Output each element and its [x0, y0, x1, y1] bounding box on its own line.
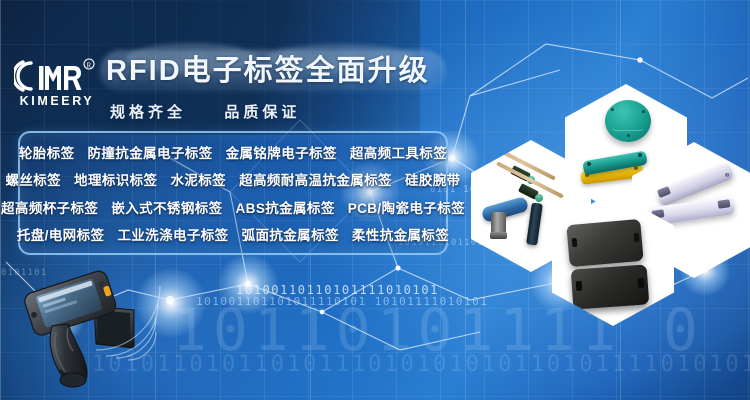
tag-row: 螺丝标签地理标识标签水泥标签超高频耐高温抗金属标签硅胶腕带 [20, 169, 446, 189]
tag-list-panel: 轮胎标签防撞抗金属电子标签金属铭牌电子标签超高频工具标签螺丝标签地理标识标签水泥… [18, 131, 448, 255]
rfid-handheld-reader-icon [22, 266, 154, 394]
binary-text-1: 10100110110101111010101 [236, 283, 439, 297]
rfid-handheld-reader[interactable] [22, 266, 154, 394]
tag-item[interactable]: 水泥标签 [170, 169, 226, 189]
tag-item[interactable]: 柔性抗金属标签 [352, 224, 449, 244]
tag-item[interactable]: 弧面抗金属标签 [242, 224, 339, 244]
title-area: RFID电子标签全面升级 [100, 48, 450, 94]
kimeery-wordmark: KIMEERY [20, 94, 95, 108]
glow-node [218, 254, 278, 314]
tag-item[interactable]: 工业洗涤电子标签 [117, 224, 228, 244]
tag-item[interactable]: 轮胎标签 [19, 142, 75, 162]
dark-rect-tag-upper [566, 219, 643, 267]
page-title: RFID电子标签全面升级 [106, 51, 430, 91]
kimeery-logo-icon: R KIMEERY [14, 52, 100, 108]
kimeery-logo: R KIMEERY [14, 52, 100, 108]
tag-row: 超高频杯子标签嵌入式不锈钢标签ABS抗金属标签PCB/陶瓷电子标签 [20, 197, 446, 217]
subtitle-left: 规格齐全 [110, 104, 186, 121]
tag-item[interactable]: 螺丝标签 [5, 169, 61, 189]
binary-watermark-strip: 1010110101101011101010101011010111101010… [92, 352, 750, 377]
tag-row: 轮胎标签防撞抗金属电子标签金属铭牌电子标签超高频工具标签 [20, 142, 446, 162]
tag-item[interactable]: 超高频工具标签 [350, 142, 447, 162]
tag-item[interactable]: 超高频耐高温抗金属标签 [239, 169, 392, 189]
tag-item[interactable]: 托盘/电网标签 [17, 224, 105, 244]
disc-tag-hole [627, 134, 630, 137]
dark-tag-notch [634, 233, 640, 242]
tag-item[interactable]: 地理标识标签 [74, 169, 157, 189]
white-tag-slot [718, 199, 731, 209]
tag-item[interactable]: 金属铭牌电子标签 [226, 142, 337, 162]
dark-tag-notch [576, 281, 583, 291]
dark-tag-notch [638, 278, 645, 288]
tag-item[interactable]: ABS抗金属标签 [236, 197, 335, 217]
dark-bar-tag [526, 202, 543, 245]
tag-item[interactable]: 超高频杯子标签 [1, 197, 98, 217]
tag-item[interactable]: 硅胶腕带 [405, 169, 461, 189]
disc-tag-hole [642, 110, 645, 113]
banner-stage: 10110101111 0 10101101011010111010101010… [0, 0, 750, 400]
subtitle-right: 品质保证 [224, 104, 300, 121]
tag-item[interactable]: 防撞抗金属电子标签 [88, 142, 213, 162]
subtitle: 规格齐全 品质保证 [110, 101, 300, 122]
tag-item[interactable]: 嵌入式不锈钢标签 [111, 197, 222, 217]
disc-tag-hole [611, 108, 614, 111]
rod-tag-cap [534, 193, 545, 204]
blue-tag-base [490, 232, 507, 239]
dark-tag-notch [572, 238, 578, 247]
binary-text-2: 101001101101011110101 10101111010101 [196, 295, 488, 308]
tag-item[interactable]: PCB/陶瓷电子标签 [348, 197, 465, 217]
svg-text:R: R [87, 61, 92, 69]
tag-row: 托盘/电网标签工业洗涤电子标签弧面抗金属标签柔性抗金属标签 [20, 224, 446, 244]
